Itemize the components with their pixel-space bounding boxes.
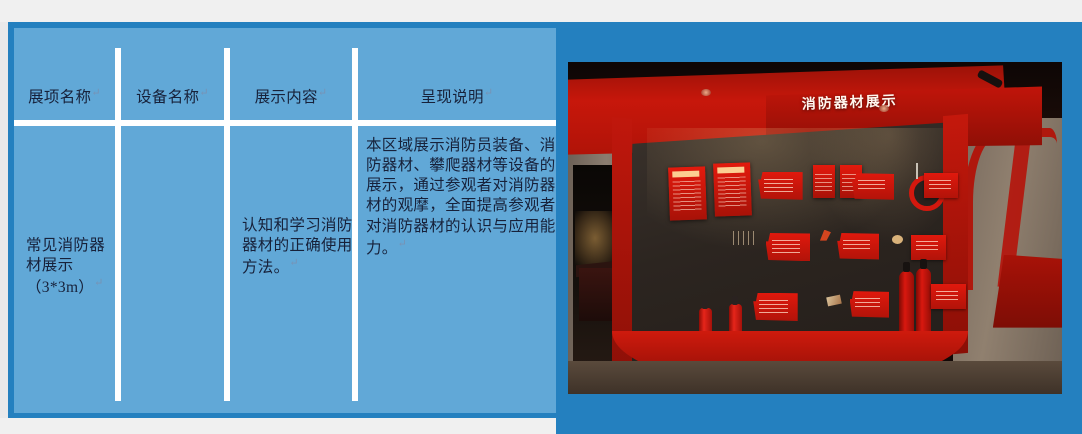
paragraph-mark: ↵	[199, 87, 209, 99]
info-placard-7	[753, 293, 797, 321]
gas-cylinder-2	[916, 268, 931, 338]
placard-lines	[929, 180, 951, 191]
table-cell-presentation-notes: 本区域展示消防员装备、消防器材、攀爬器材等设备的展示，通过参观者对消防器材的观摩…	[366, 136, 556, 259]
floor	[568, 361, 1062, 394]
placard-lines	[916, 241, 938, 252]
poster-1	[668, 166, 707, 220]
table-header-exhibit-name: 展项名称↵	[14, 86, 115, 108]
interactive-kiosk	[579, 268, 614, 321]
poster-body-text	[673, 180, 701, 211]
doorway-glow	[575, 211, 615, 264]
paragraph-mark: ↵	[398, 238, 408, 250]
table-header-presentation-notes-label: 呈现说明	[421, 89, 484, 106]
placard-lines	[855, 298, 880, 310]
fire-equipment-exhibition-photo: 消防器材展示	[568, 62, 1062, 394]
poster-title-bar	[717, 167, 744, 173]
paragraph-mark: ↵	[318, 87, 328, 99]
page-left-gutter	[0, 22, 8, 418]
table-header-exhibit-name-label: 展项名称	[28, 89, 91, 106]
ceiling-light-1	[701, 89, 711, 96]
info-placard-8	[850, 291, 890, 318]
placard-lines	[764, 179, 792, 192]
table-cell-display-content: 认知和学习消防器材的正确使用方法。↵	[242, 216, 354, 279]
smoke-detector	[892, 235, 903, 244]
info-placard-1	[758, 172, 802, 200]
paragraph-mark: ↵	[94, 277, 104, 289]
poster-body-text	[718, 177, 746, 208]
table-header-device-name-label: 设备名称	[136, 89, 199, 106]
placard-lines	[772, 240, 800, 253]
table-body: 展项名称↵ 设备名称↵ 展示内容↵ 呈现说明↵ 常见消防器材展示（3*3m）↵ …	[14, 28, 556, 413]
placard-lines	[858, 180, 885, 192]
poster-body-text	[815, 174, 831, 193]
placard-lines	[843, 240, 870, 252]
header-row-divider	[14, 120, 556, 126]
wall-frame-right	[943, 114, 968, 355]
table-header-presentation-notes: 呈现说明↵	[358, 86, 556, 108]
info-placard-6	[911, 235, 946, 260]
document-page: 展项名称↵ 设备名称↵ 展示内容↵ 呈现说明↵ 常见消防器材展示（3*3m）↵ …	[0, 0, 1082, 434]
sprinkler-heads	[733, 231, 755, 245]
table-cell-exhibit-name: 常见消防器材展示（3*3m）↵	[26, 236, 116, 299]
paragraph-mark: ↵	[289, 257, 299, 269]
photo-panel: 消防器材展示	[556, 22, 1082, 434]
right-wall-red-counter	[993, 255, 1062, 328]
exhibit-specification-table: 展项名称↵ 设备名称↵ 展示内容↵ 呈现说明↵ 常见消防器材展示（3*3m）↵ …	[8, 22, 556, 418]
paragraph-mark: ↵	[484, 87, 494, 99]
hose-stand	[916, 163, 918, 179]
table-header-display-content-label: 展示内容	[255, 89, 318, 106]
table-header-display-content: 展示内容↵	[230, 86, 352, 108]
placard-lines	[936, 291, 958, 302]
poster-title-bar	[673, 170, 700, 176]
info-placard-9	[931, 284, 966, 309]
info-placard-5	[837, 233, 879, 260]
info-placard-3	[924, 173, 959, 198]
poster-2	[713, 163, 752, 217]
info-placard-2	[852, 173, 894, 200]
table-header-device-name: 设备名称↵	[121, 86, 224, 108]
placard-lines	[759, 300, 787, 313]
info-placard-4	[766, 233, 810, 261]
poster-3	[813, 165, 835, 198]
paragraph-mark: ↵	[91, 87, 101, 99]
table-cell-presentation-notes-text: 本区域展示消防员装备、消防器材、攀爬器材等设备的展示，通过参观者对消防器材的观摩…	[366, 137, 556, 257]
